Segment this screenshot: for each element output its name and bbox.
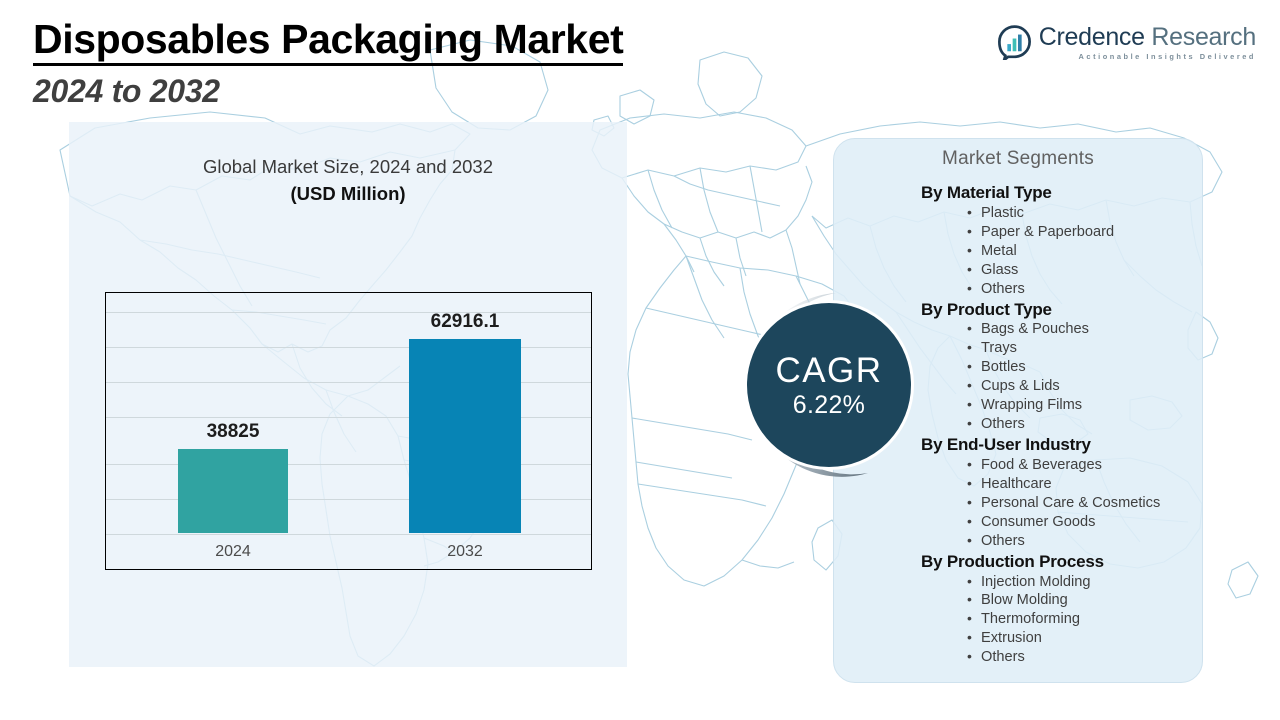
- segment-items: PlasticPaper & PaperboardMetalGlassOther…: [921, 204, 1202, 299]
- segment-group: By Material TypePlasticPaper & Paperboar…: [921, 182, 1202, 299]
- segment-heading: By Material Type: [921, 182, 1202, 204]
- segment-heading: By Product Type: [921, 299, 1202, 321]
- cagr-circle: CAGR 6.22%: [744, 300, 914, 470]
- list-item[interactable]: Plastic: [967, 204, 1202, 223]
- category-label-2032: 2032: [409, 543, 521, 561]
- list-item[interactable]: Consumer Goods: [967, 513, 1202, 532]
- list-item[interactable]: Others: [967, 415, 1202, 434]
- list-item[interactable]: Personal Care & Cosmetics: [967, 494, 1202, 513]
- bar-value-2032: 62916.1: [409, 311, 521, 333]
- list-item[interactable]: Blow Molding: [967, 591, 1202, 610]
- list-item[interactable]: Others: [967, 280, 1202, 299]
- list-item[interactable]: Extrusion: [967, 629, 1202, 648]
- list-item[interactable]: Wrapping Films: [967, 396, 1202, 415]
- page-title: Disposables Packaging Market: [33, 18, 623, 66]
- bar-chart-bubble-icon: [997, 25, 1032, 60]
- list-item[interactable]: Trays: [967, 339, 1202, 358]
- chart-subtitle: (USD Million): [69, 183, 627, 205]
- list-item[interactable]: Injection Molding: [967, 573, 1202, 592]
- brand-logo[interactable]: Credence Research Actionable Insights De…: [997, 25, 1256, 60]
- list-item[interactable]: Food & Beverages: [967, 456, 1202, 475]
- segment-group: By Production ProcessInjection MoldingBl…: [921, 551, 1202, 668]
- segment-items: Bags & PouchesTraysBottlesCups & LidsWra…: [921, 320, 1202, 434]
- list-item[interactable]: Others: [967, 648, 1202, 667]
- list-item[interactable]: Others: [967, 532, 1202, 551]
- list-item[interactable]: Bags & Pouches: [967, 320, 1202, 339]
- logo-name-secondary: Research: [1151, 23, 1256, 51]
- segment-group: By End-User IndustryFood & BeveragesHeal…: [921, 434, 1202, 551]
- segments-title: Market Segments: [834, 148, 1202, 170]
- infographic-canvas: Disposables Packaging Market 2024 to 203…: [0, 0, 1280, 720]
- list-item[interactable]: Cups & Lids: [967, 377, 1202, 396]
- chart-title: Global Market Size, 2024 and 2032: [69, 156, 627, 178]
- list-item[interactable]: Healthcare: [967, 475, 1202, 494]
- list-item[interactable]: Metal: [967, 242, 1202, 261]
- segment-items: Injection MoldingBlow MoldingThermoformi…: [921, 573, 1202, 668]
- chart-panel: Global Market Size, 2024 and 2032 (USD M…: [69, 122, 627, 667]
- header: Disposables Packaging Market 2024 to 203…: [33, 18, 623, 110]
- segment-heading: By Production Process: [921, 551, 1202, 573]
- category-label-2024: 2024: [178, 543, 288, 561]
- bar-value-2024: 38825: [178, 421, 288, 443]
- segments-list: By Material TypePlasticPaper & Paperboar…: [921, 182, 1202, 667]
- list-item[interactable]: Bottles: [967, 358, 1202, 377]
- cagr-value: 6.22%: [793, 393, 865, 418]
- cagr-label: CAGR: [775, 353, 882, 388]
- logo-tagline: Actionable Insights Delivered: [1039, 53, 1256, 60]
- bar-chart: 38825 62916.1 2024 2032: [105, 292, 592, 570]
- cagr-badge: CAGR 6.22%: [718, 289, 918, 489]
- list-item[interactable]: Thermoforming: [967, 610, 1202, 629]
- chart-plot-area: 38825 62916.1 2024 2032: [106, 293, 591, 569]
- segment-items: Food & BeveragesHealthcarePersonal Care …: [921, 456, 1202, 551]
- bar-2024[interactable]: [178, 449, 288, 533]
- logo-name-primary: Credence: [1039, 23, 1145, 51]
- logo-wordmark: Credence Research Actionable Insights De…: [1039, 25, 1256, 60]
- page-subtitle: 2024 to 2032: [33, 73, 623, 110]
- list-item[interactable]: Glass: [967, 261, 1202, 280]
- bar-2032[interactable]: [409, 339, 521, 533]
- segment-heading: By End-User Industry: [921, 434, 1202, 456]
- list-item[interactable]: Paper & Paperboard: [967, 223, 1202, 242]
- segment-group: By Product TypeBags & PouchesTraysBottle…: [921, 299, 1202, 435]
